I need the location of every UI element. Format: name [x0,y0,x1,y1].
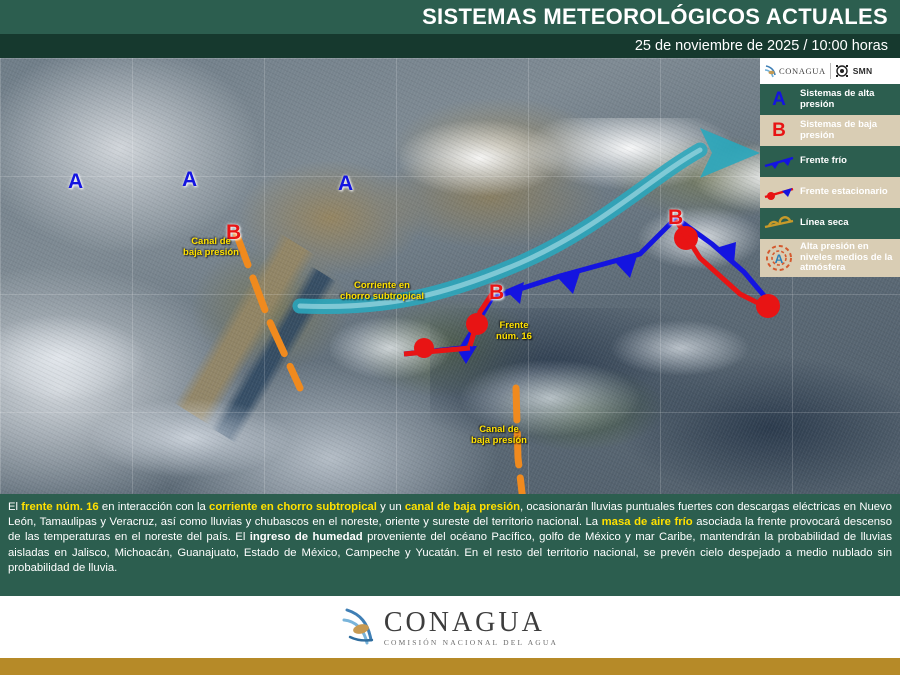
summary-segment: ingreso de humedad [250,531,363,543]
trough-label-northwest-line1: Canal de [172,236,250,247]
legend-item-dry-line[interactable]: Línea seca [760,208,900,239]
conagua-wave-icon [764,64,777,79]
footer-logo-text: CONAGUA COMISIÓN NACIONAL DEL AGUA [384,608,558,647]
legend-item-stationary-front[interactable]: Frente estacionario [760,177,900,208]
subtropical-jet-label-line2: chorro subtropical [332,291,432,302]
trough-label-south: Canal de baja presión [460,424,538,446]
forecast-summary-text: El frente núm. 16 en interacción con la … [8,500,892,576]
conagua-wave-icon-large [342,607,376,647]
logo-divider [830,63,831,79]
footer-bar: CONAGUA COMISIÓN NACIONAL DEL AGUA [0,594,900,658]
summary-segment: y un [377,501,405,513]
summary-segment: masa de aire frío [602,516,693,528]
low-pressure-b-front: B [489,281,504,305]
high-pressure-a-west: A [68,170,83,194]
legend-label-cold-front: Frente frío [800,156,847,167]
conagua-footer-logo: CONAGUA COMISIÓN NACIONAL DEL AGUA [342,607,558,647]
legend-item-cold-front[interactable]: Frente frío [760,146,900,177]
front-16-label: Frente núm. 16 [484,320,544,342]
legend-label-high-pressure: Sistemas de alta presión [800,89,896,110]
satellite-map[interactable]: A A A B B B Canal de baja presión Corrie… [0,58,900,494]
summary-segment: en interacción con la [99,501,209,513]
stationary-front-icon [762,185,796,201]
conagua-logo-small: CONAGUA [764,64,826,79]
legend-label-low-pressure: Sistemas de baja presión [800,120,896,141]
trough-label-south-line1: Canal de [460,424,538,435]
trough-label-northwest: Canal de baja presión [172,236,250,258]
legend-panel: CONAGUA SMN A Sistemas de alta presión B… [760,58,900,277]
high-pressure-a-center: A [182,168,197,192]
legend-item-high-pressure[interactable]: A Sistemas de alta presión [760,84,900,115]
summary-segment: canal de baja presión [405,501,520,513]
conagua-logo-text: CONAGUA [779,66,826,76]
trough-label-south-line2: baja presión [460,435,538,446]
front-16-label-line1: Frente [484,320,544,331]
summary-segment: El [8,501,21,513]
smn-emblem-icon [835,64,849,78]
low-pressure-icon: B [762,120,796,142]
forecast-summary-block: El frente núm. 16 en interacción con la … [0,494,900,594]
page-title: SISTEMAS METEOROLÓGICOS ACTUALES [422,4,888,30]
legend-label-mid-level-high: Alta presión en niveles medios de la atm… [800,242,896,274]
high-pressure-a-east: A [338,172,353,196]
footer-logo-main: CONAGUA [384,607,545,638]
summary-segment: corriente en chorro subtropical [209,501,377,513]
legend-label-stationary-front: Frente estacionario [800,187,888,198]
high-pressure-icon: A [762,89,796,111]
subtropical-jet-label: Corriente en chorro subtropical [332,280,432,302]
legend-logo-bar: CONAGUA SMN [760,58,900,84]
dry-line-icon [762,216,796,232]
legend-label-dry-line: Línea seca [800,218,849,229]
mid-level-high-icon: A [762,243,796,273]
legend-item-mid-level-high[interactable]: A Alta presión en niveles medios de la a… [760,239,900,277]
front-16-label-line2: núm. 16 [484,331,544,342]
footer-logo-sub: COMISIÓN NACIONAL DEL AGUA [384,638,558,647]
low-pressure-b-northeast: B [668,206,683,230]
header-title-bar: SISTEMAS METEOROLÓGICOS ACTUALES [0,0,900,34]
legend-item-low-pressure[interactable]: B Sistemas de baja presión [760,115,900,146]
summary-segment: frente núm. 16 [21,501,98,513]
gold-accent-bar [0,658,900,675]
cold-front-icon [762,154,796,170]
header-subtitle-bar: 25 de noviembre de 2025 / 10:00 horas [0,34,900,58]
svg-text:A: A [775,252,784,266]
trough-label-northwest-line2: baja presión [172,247,250,258]
header-datetime: 25 de noviembre de 2025 / 10:00 horas [635,38,888,54]
subtropical-jet-label-line1: Corriente en [332,280,432,291]
smn-logo-text: SMN [853,66,873,76]
